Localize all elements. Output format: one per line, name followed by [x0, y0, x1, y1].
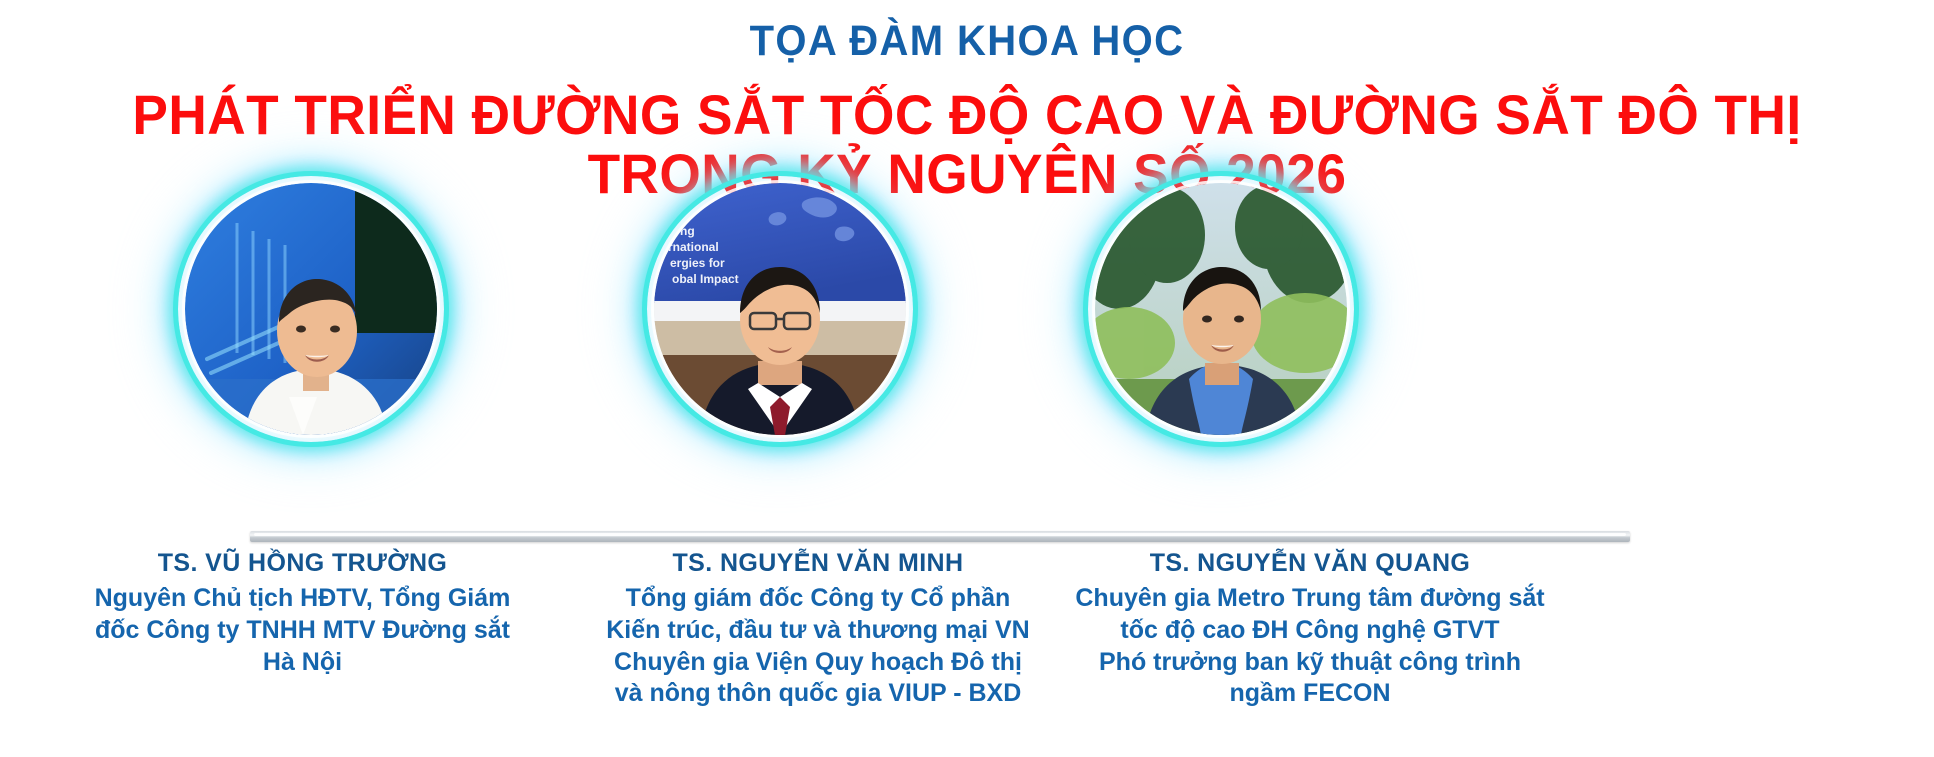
speaker-caption-1: TS. VŨ HỒNG TRƯỜNG Nguyên Chủ tịch HĐTV,…: [60, 548, 545, 678]
speaker-portrait-row: ng rnational ergies for obal Impact: [0, 176, 1934, 446]
speaker-name-3: TS. NGUYỄN VĂN QUANG: [1030, 548, 1590, 578]
speaker-title-line: tốc độ cao ĐH Công nghệ GTVT: [1030, 615, 1590, 647]
speaker-portrait-2: ng rnational ergies for obal Impact: [647, 176, 913, 442]
svg-text:ergies for: ergies for: [670, 256, 725, 270]
speaker-portrait-1: [178, 176, 444, 442]
speaker-name-1: TS. VŨ HỒNG TRƯỜNG: [60, 548, 545, 578]
speaker-title-line: Hà Nội: [60, 647, 545, 679]
speaker-title-line: Tổng giám đốc Công ty Cổ phần: [568, 583, 1068, 615]
speaker-title-line: Chuyên gia Viện Quy hoạch Đô thị: [568, 647, 1068, 679]
svg-text:obal Impact: obal Impact: [672, 272, 739, 286]
speaker-caption-3: TS. NGUYỄN VĂN QUANG Chuyên gia Metro Tr…: [1030, 548, 1590, 710]
portrait-photo-2: ng rnational ergies for obal Impact: [654, 183, 906, 435]
speaker-title-line: Phó trưởng ban kỹ thuật công trình: [1030, 647, 1590, 679]
speaker-portrait-3: [1088, 176, 1354, 442]
speaker-title-1: Nguyên Chủ tịch HĐTV, Tổng Giám đốc Công…: [60, 583, 545, 678]
speaker-title-line: Kiến trúc, đầu tư và thương mại VN: [568, 615, 1068, 647]
speaker-title-3: Chuyên gia Metro Trung tâm đường sắt tốc…: [1030, 583, 1590, 710]
speaker-captions-row: TS. VŨ HỒNG TRƯỜNG Nguyên Chủ tịch HĐTV,…: [0, 548, 1934, 757]
portrait-photo-1: [185, 183, 437, 435]
headline-line-1: PHÁT TRIỂN ĐƯỜNG SẮT TỐC ĐỘ CAO VÀ ĐƯỜNG…: [48, 85, 1885, 144]
portrait-ring-wrapper-3: [1088, 176, 1354, 442]
portrait-photo-3: [1095, 183, 1347, 435]
portrait-ring-wrapper-2: ng rnational ergies for obal Impact: [647, 176, 913, 442]
speaker-title-line: và nông thôn quốc gia VIUP - BXD: [568, 678, 1068, 710]
speaker-title-line: đốc Công ty TNHH MTV Đường sắt: [60, 615, 545, 647]
event-kicker: TỌA ĐÀM KHOA HỌC: [68, 0, 1867, 63]
speaker-title-2: Tổng giám đốc Công ty Cổ phần Kiến trúc,…: [568, 583, 1068, 710]
speaker-caption-2: TS. NGUYỄN VĂN MINH Tổng giám đốc Công t…: [568, 548, 1068, 710]
speaker-name-2: TS. NGUYỄN VĂN MINH: [568, 548, 1068, 578]
speaker-title-line: ngầm FECON: [1030, 678, 1590, 710]
speaker-title-line: Nguyên Chủ tịch HĐTV, Tổng Giám: [60, 583, 545, 615]
portrait-ring-wrapper-1: [178, 176, 444, 442]
horizontal-divider-bar: [250, 531, 1630, 542]
speaker-title-line: Chuyên gia Metro Trung tâm đường sắt: [1030, 583, 1590, 615]
svg-text:rnational: rnational: [668, 240, 719, 254]
seminar-poster: TỌA ĐÀM KHOA HỌC PHÁT TRIỂN ĐƯỜNG SẮT TỐ…: [0, 0, 1934, 757]
